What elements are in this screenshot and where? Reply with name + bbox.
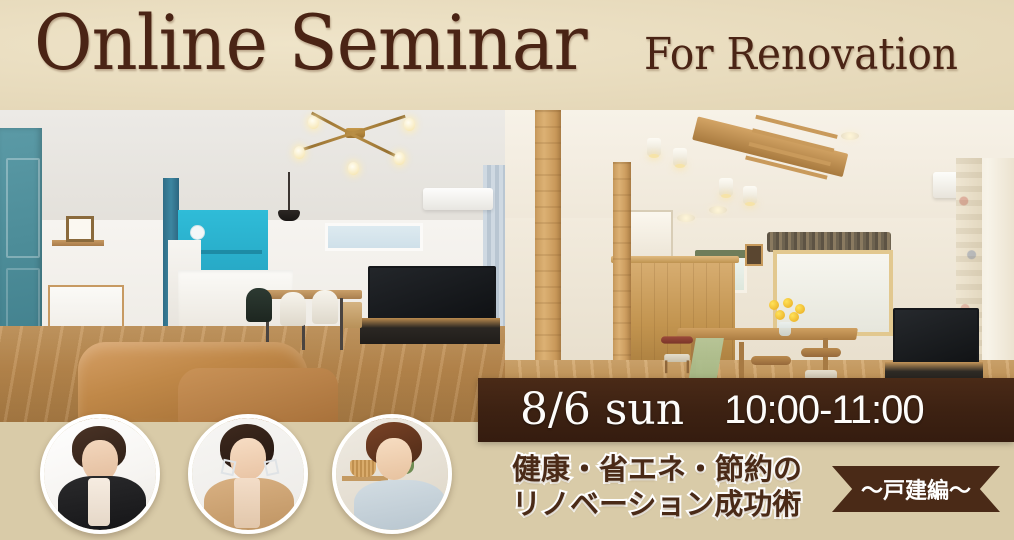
avatar-speaker-1 <box>40 414 160 534</box>
category-ribbon: 〜戸建編〜 <box>832 466 1000 512</box>
ribbon-label: 〜戸建編〜 <box>861 473 971 505</box>
photo-wooden-dining-room <box>505 110 1014 422</box>
avatar-speaker-3 <box>332 414 452 534</box>
event-date: 8/6 sun <box>520 388 684 432</box>
header-strip: Online Seminar For Renovation <box>0 0 1014 110</box>
title-main: Online Seminar <box>34 5 587 81</box>
event-subtitle: 健康・省エネ・節約の リノベーション成功術 <box>512 452 822 523</box>
page-title: Online Seminar For Renovation <box>34 5 985 81</box>
event-time: 10:00-11:00 <box>724 390 924 430</box>
chandelier-icon <box>290 120 420 176</box>
photo-band <box>0 110 1014 422</box>
title-sub: For Renovation <box>644 33 958 77</box>
subtitle-line-2: リノベーション成功術 <box>512 487 822 522</box>
avatar-speaker-2 <box>188 414 308 534</box>
flower-bouquet <box>763 298 807 332</box>
seminar-banner: Online Seminar For Renovation <box>0 0 1014 540</box>
event-datetime-bar: 8/6 sun 10:00-11:00 <box>478 378 1014 442</box>
photo-modern-living-room <box>0 110 505 422</box>
subtitle-line-1: 健康・省エネ・節約の <box>512 452 822 487</box>
